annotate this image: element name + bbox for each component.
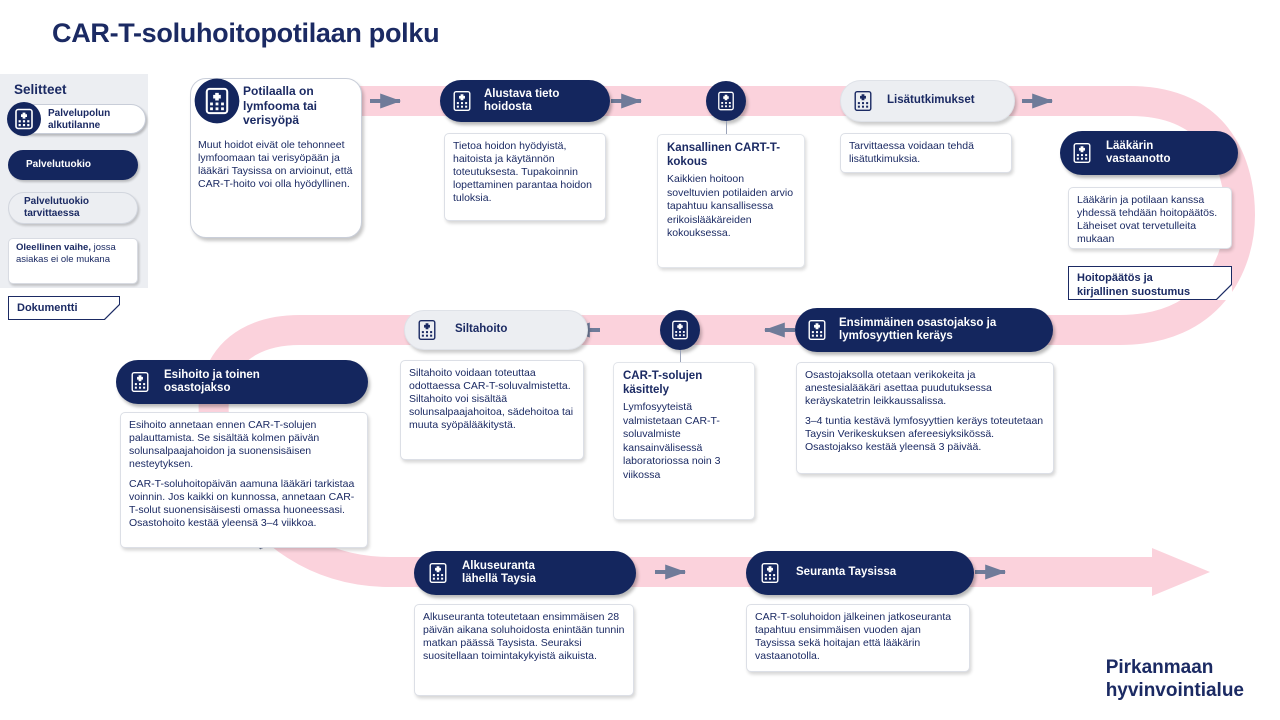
- hospital-grid-icon: [194, 78, 240, 124]
- legend-item-dokumentti: Dokumentti: [8, 296, 120, 320]
- document-fold-icon: [104, 304, 120, 320]
- node-lisatutkimukset[interactable]: Lisätutkimukset: [840, 80, 1015, 122]
- node-body-alkuseuranta: Alkuseuranta toteutetaan ensimmäisen 28 …: [414, 604, 634, 696]
- node-body-siltahoito: Siltahoito voidaan toteuttaa odottaessa …: [400, 360, 584, 460]
- node-body-esihoito: Esihoito annetaan ennen CAR-T-solujen pa…: [120, 412, 368, 548]
- document-label: Hoitopäätös ja kirjallinen suostumus: [1077, 272, 1190, 298]
- caption-text: Kaikkien hoitoon soveltuvien potilaiden …: [667, 173, 793, 239]
- desc-text: 3–4 tuntia kestävä lymfosyyttien keräys …: [805, 415, 1045, 454]
- node-label-alustava-tieto: Alustava tieto hoidosta: [484, 88, 559, 115]
- node-laakarin-vastaanotto[interactable]: Lääkärin vastaanotto: [1060, 131, 1238, 175]
- legend-item-label: Palvelutuokio tarvittaessa: [24, 196, 89, 220]
- desc-text: Esihoito annetaan ennen CAR-T-solujen pa…: [129, 419, 359, 471]
- legend-item-label: Palvelupolun alkutilanne: [48, 108, 110, 131]
- hospital-grid-icon: [126, 368, 154, 396]
- desc-text: CAR-T-soluhoitopäivän aamuna lääkäri tar…: [129, 478, 359, 530]
- legend-title: Selitteet: [14, 82, 67, 97]
- hospital-grid-icon: [413, 316, 441, 344]
- desc-text: Osastojaksolla otetaan verikokeita ja an…: [805, 369, 1045, 408]
- desc-text: CAR-T-soluhoidon jälkeinen jatkoseuranta…: [755, 611, 961, 663]
- node-body-ensimmainen-osastojakso: Osastojaksolla otetaan verikokeita ja an…: [796, 362, 1054, 474]
- hospital-grid-icon: [849, 87, 877, 115]
- node-seuranta-taysissa[interactable]: Seuranta Taysissa: [746, 551, 974, 595]
- node-body-seuranta-taysissa: CAR-T-soluhoidon jälkeinen jatkoseuranta…: [746, 604, 970, 672]
- node-label-lisatutkimukset: Lisätutkimukset: [887, 94, 975, 108]
- node-body-kansallinen-kokous: Kansallinen CART-T-kokous Kaikkien hoito…: [657, 134, 805, 268]
- node-body-cart-kasittely: CAR-T-solujen käsittely Lymfosyyteistä v…: [613, 362, 755, 520]
- hospital-grid-icon: [756, 559, 784, 587]
- node-label-esihoito: Esihoito ja toinen osastojakso: [164, 369, 260, 396]
- node-alkuseuranta[interactable]: Alkuseuranta lähellä Taysia: [414, 551, 636, 595]
- node-label-laakarin-vastaanotto: Lääkärin vastaanotto: [1106, 140, 1171, 167]
- desc-text: Tietoa hoidon hyödyistä, haitoista ja kä…: [453, 140, 597, 205]
- legend-item-label: Palvelutuokio: [26, 159, 91, 170]
- node-alustava-tieto[interactable]: Alustava tieto hoidosta: [440, 80, 610, 122]
- hospital-grid-icon: [424, 559, 452, 587]
- legend-item-oleellinen-vaihe: Oleellinen vaihe, jossa asiakas ei ole m…: [8, 238, 138, 284]
- node-label-siltahoito: Siltahoito: [455, 323, 507, 337]
- node-ensimmainen-osastojakso[interactable]: Ensimmäinen osastojakso ja lymfosyyttien…: [795, 308, 1053, 352]
- legend-item-palvelupolun-alkutilanne: Palvelupolun alkutilanne: [8, 104, 146, 134]
- node-body-laakarin-vastaanotto: Lääkärin ja potilaan kanssa yhdessä tehd…: [1068, 187, 1232, 249]
- desc-text: Alkuseuranta toteutetaan ensimmäisen 28 …: [423, 611, 625, 663]
- node-label-seuranta-taysissa: Seuranta Taysissa: [796, 566, 896, 580]
- node-kansallinen-kokous[interactable]: [706, 81, 746, 121]
- node-body-alustava-tieto: Tietoa hoidon hyödyistä, haitoista ja kä…: [444, 133, 606, 221]
- desc-text: Tarvittaessa voidaan tehdä lisätutkimuks…: [849, 140, 1003, 166]
- node-label-potilaalla: Potilaalla on lymfooma tai verisyöpä: [243, 84, 355, 128]
- hospital-grid-icon: [448, 87, 476, 115]
- node-label-alkuseuranta: Alkuseuranta lähellä Taysia: [462, 560, 536, 587]
- desc-text: Siltahoito voidaan toteuttaa odottaessa …: [409, 367, 575, 432]
- legend-item-palvelutuokio: Palvelutuokio: [8, 150, 138, 180]
- caption-heading: Kansallinen CART-T-kokous: [667, 142, 795, 169]
- document-fold-icon: [1216, 284, 1232, 300]
- page-title: CAR-T-soluhoitopotilaan polku: [52, 18, 439, 49]
- legend-item-palvelutuokio-tarvittaessa: Palvelutuokio tarvittaessa: [8, 192, 138, 224]
- hospital-grid-icon: [803, 316, 831, 344]
- legend-item-label-bold: Oleellinen vaihe,: [16, 242, 91, 253]
- node-esihoito[interactable]: Esihoito ja toinen osastojakso: [116, 360, 368, 404]
- hospital-grid-icon: [6, 101, 42, 137]
- node-cart-kasittely[interactable]: [660, 310, 700, 350]
- caption-text: Lymfosyyteistä valmistetaan CAR-T-soluva…: [623, 401, 720, 481]
- node-body-potilaalla: Muut hoidot eivät ole tehonneet lymfooma…: [198, 139, 356, 191]
- node-body-lisatutkimukset: Tarvittaessa voidaan tehdä lisätutkimuks…: [840, 133, 1012, 173]
- caption-heading: CAR-T-solujen käsittely: [623, 370, 745, 397]
- hospital-grid-icon: [713, 88, 739, 114]
- hospital-grid-icon: [667, 317, 693, 343]
- brand-logo: Pirkanmaan hyvinvointialue: [1106, 656, 1244, 702]
- brand-line-2: hyvinvointialue: [1106, 679, 1244, 702]
- legend-item-label: Dokumentti: [17, 302, 78, 314]
- diagram-canvas: CAR-T-soluhoitopotilaan polku Selitteet …: [0, 0, 1280, 720]
- desc-text: Lääkärin ja potilaan kanssa yhdessä tehd…: [1077, 194, 1223, 246]
- node-siltahoito[interactable]: Siltahoito: [404, 310, 588, 350]
- brand-line-1: Pirkanmaan: [1106, 656, 1244, 679]
- node-label-ensimmainen-osastojakso: Ensimmäinen osastojakso ja lymfosyyttien…: [839, 317, 996, 344]
- document-hoitopaatos: Hoitopäätös ja kirjallinen suostumus: [1068, 266, 1232, 300]
- hospital-grid-icon: [1068, 139, 1096, 167]
